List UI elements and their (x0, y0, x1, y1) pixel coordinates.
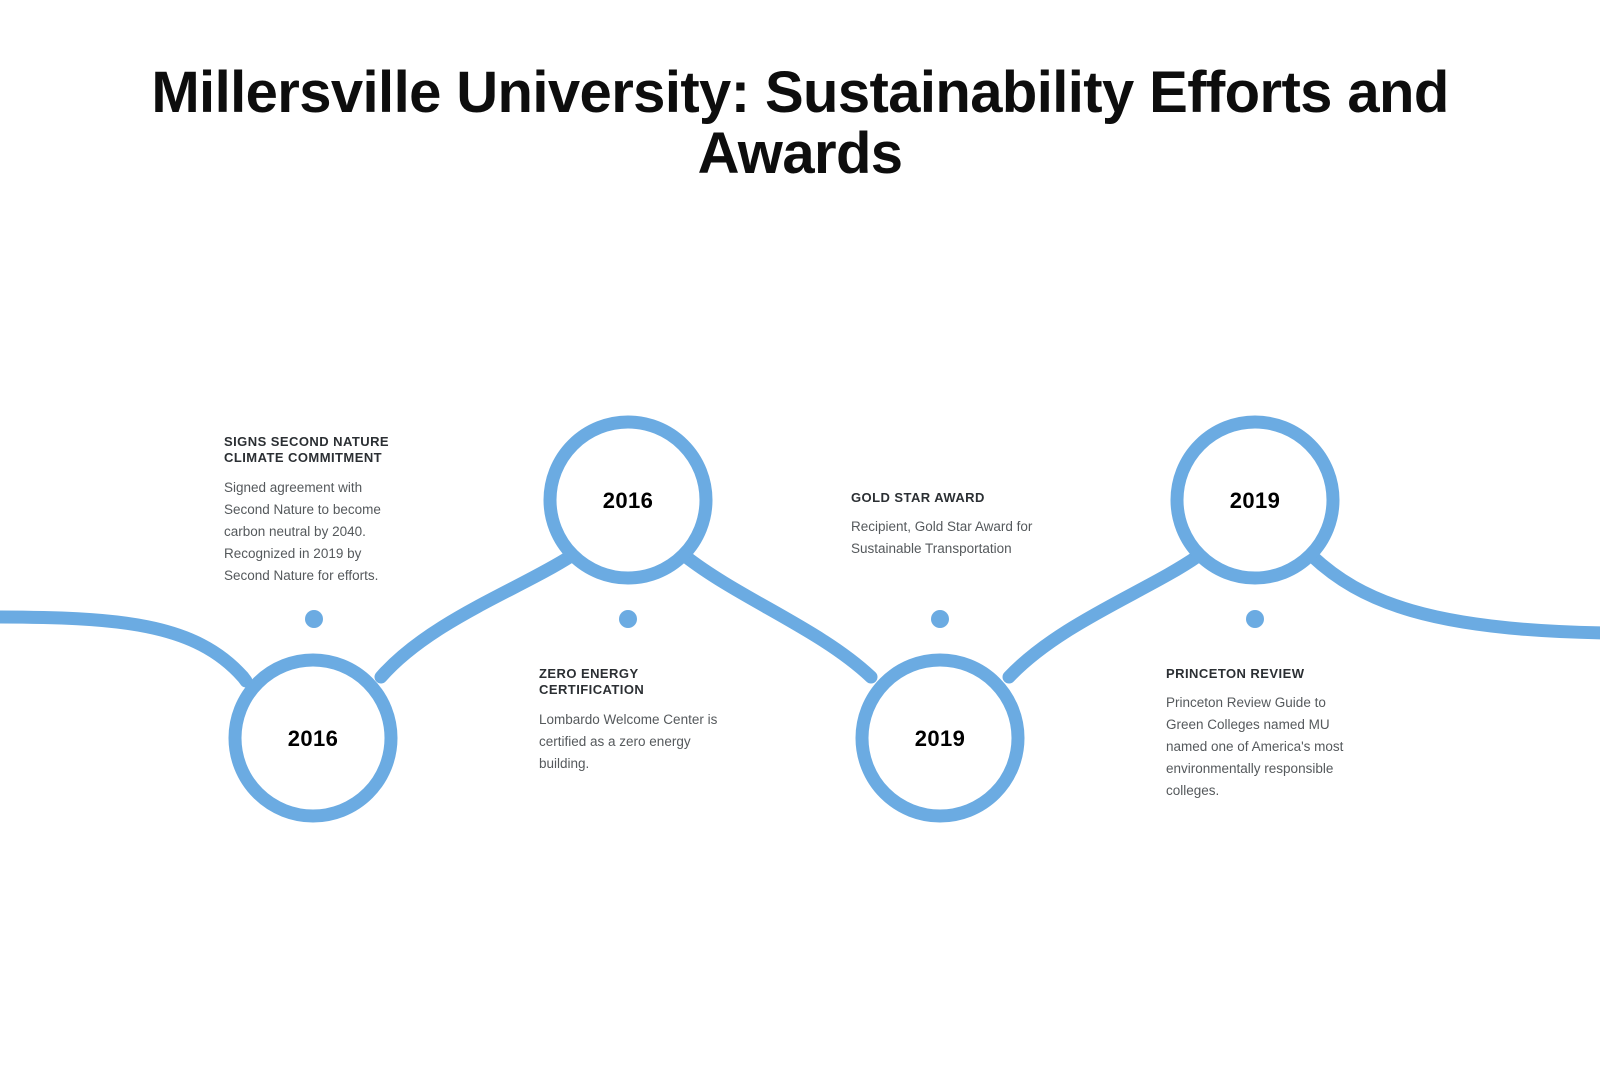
infographic-canvas: Millersville University: Sustainability … (0, 0, 1600, 1067)
milestone-year-2: 2019 (915, 726, 966, 752)
milestone-dot-1 (619, 610, 637, 628)
milestone-entry-body-2: Recipient, Gold Star Award for Sustainab… (851, 516, 1036, 560)
milestone-year-0: 2016 (288, 726, 339, 752)
milestone-entry-title-1: ZERO ENERGY CERTIFICATION (539, 666, 724, 699)
milestone-entry-0: SIGNS SECOND NATURE CLIMATE COMMITMENTSi… (224, 434, 409, 587)
milestone-entry-title-2: GOLD STAR AWARD (851, 490, 1036, 506)
milestone-entry-body-0: Signed agreement with Second Nature to b… (224, 477, 409, 587)
milestone-entry-title-3: PRINCETON REVIEW (1166, 666, 1351, 682)
milestone-entry-title-0: SIGNS SECOND NATURE CLIMATE COMMITMENT (224, 434, 409, 467)
milestone-year-1: 2016 (603, 488, 654, 514)
milestone-dot-3 (1246, 610, 1264, 628)
milestone-entry-body-3: Princeton Review Guide to Green Colleges… (1166, 692, 1351, 802)
milestone-dot-2 (931, 610, 949, 628)
milestone-dot-0 (305, 610, 323, 628)
milestone-entry-2: GOLD STAR AWARDRecipient, Gold Star Awar… (851, 490, 1036, 560)
milestone-entry-1: ZERO ENERGY CERTIFICATIONLombardo Welcom… (539, 666, 724, 775)
milestone-entry-3: PRINCETON REVIEWPrinceton Review Guide t… (1166, 666, 1351, 802)
milestone-year-3: 2019 (1230, 488, 1281, 514)
milestone-entry-body-1: Lombardo Welcome Center is certified as … (539, 709, 724, 775)
